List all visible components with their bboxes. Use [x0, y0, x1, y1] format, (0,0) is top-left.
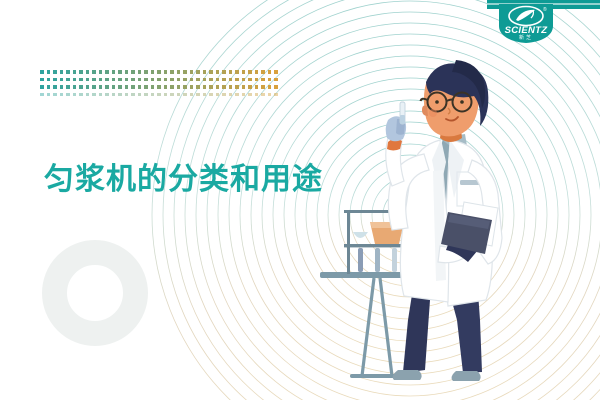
matrix-dot [164, 78, 168, 82]
matrix-dot [222, 85, 226, 89]
matrix-dot [268, 70, 272, 74]
lab-bench [320, 210, 440, 378]
matrix-dot [79, 93, 83, 97]
scientist-illustration [300, 20, 600, 400]
matrix-dot [177, 78, 181, 82]
matrix-dot [47, 70, 51, 74]
matrix-dot [229, 85, 233, 89]
page-title: 匀浆机的分类和用途 [44, 154, 323, 198]
matrix-dot [138, 93, 142, 97]
matrix-dot [242, 70, 246, 74]
matrix-dot [53, 70, 57, 74]
matrix-dot [66, 85, 70, 89]
matrix-dot [151, 78, 155, 82]
matrix-dot [203, 85, 207, 89]
matrix-dot [170, 70, 174, 74]
matrix-dot [125, 70, 129, 74]
matrix-dot [73, 78, 77, 82]
matrix-dot [86, 70, 90, 74]
matrix-dot [255, 70, 259, 74]
matrix-dot [170, 85, 174, 89]
matrix-dot [112, 78, 116, 82]
matrix-dot [274, 70, 278, 74]
matrix-dot [92, 93, 96, 97]
matrix-dot [66, 78, 70, 82]
matrix-dot [79, 78, 83, 82]
matrix-dot [138, 70, 142, 74]
matrix-dot [66, 93, 70, 97]
matrix-dot [235, 70, 239, 74]
matrix-dot [125, 85, 129, 89]
matrix-dot [196, 70, 200, 74]
matrix-dot [138, 85, 142, 89]
matrix-dot [60, 70, 64, 74]
matrix-dot [183, 78, 187, 82]
matrix-dot [105, 70, 109, 74]
matrix-dot [255, 93, 259, 97]
matrix-dot [177, 70, 181, 74]
matrix-dot [60, 93, 64, 97]
matrix-dot [144, 85, 148, 89]
dot-matrix-decoration [40, 70, 281, 100]
matrix-dot [164, 85, 168, 89]
matrix-dot [40, 85, 44, 89]
matrix-dot [170, 93, 174, 97]
matrix-dot [229, 93, 233, 97]
matrix-dot [261, 78, 265, 82]
matrix-dot [151, 93, 155, 97]
matrix-dot [177, 93, 181, 97]
matrix-dot [248, 93, 252, 97]
matrix-dot [157, 70, 161, 74]
matrix-dot [131, 85, 135, 89]
matrix-dot [183, 85, 187, 89]
promo-banner: 匀浆机的分类和用途 ® SCIENTZ 新芝 [0, 0, 600, 400]
matrix-dot [177, 85, 181, 89]
matrix-dot [144, 78, 148, 82]
matrix-dot [242, 85, 246, 89]
matrix-dot [112, 85, 116, 89]
matrix-dot [261, 85, 265, 89]
matrix-dot [164, 70, 168, 74]
matrix-dot [125, 93, 129, 97]
matrix-dot [274, 93, 278, 97]
matrix-dot [144, 70, 148, 74]
matrix-dot [274, 78, 278, 82]
matrix-dot [53, 85, 57, 89]
matrix-dot [222, 78, 226, 82]
matrix-dot [47, 85, 51, 89]
matrix-dot [105, 93, 109, 97]
matrix-dot [105, 78, 109, 82]
registered-symbol: ® [543, 7, 547, 13]
matrix-dot [118, 93, 122, 97]
matrix-dot [99, 85, 103, 89]
matrix-dot [86, 78, 90, 82]
matrix-dot [47, 93, 51, 97]
matrix-dot [216, 70, 220, 74]
matrix-dot [268, 93, 272, 97]
matrix-dot [79, 70, 83, 74]
matrix-dot [157, 93, 161, 97]
matrix-dot [157, 78, 161, 82]
test-tubes [358, 248, 413, 272]
matrix-dot [190, 93, 194, 97]
matrix-dot [196, 93, 200, 97]
matrix-dot [229, 78, 233, 82]
glassware-upper-shelf [353, 222, 432, 244]
matrix-dot [53, 78, 57, 82]
matrix-dot [255, 78, 259, 82]
matrix-dot [60, 78, 64, 82]
matrix-dot [261, 70, 265, 74]
matrix-dot [190, 70, 194, 74]
matrix-dot [203, 70, 207, 74]
matrix-dot [99, 70, 103, 74]
matrix-dot [209, 78, 213, 82]
matrix-dot [86, 85, 90, 89]
matrix-dot [235, 85, 239, 89]
matrix-dot [209, 85, 213, 89]
matrix-dot [209, 70, 213, 74]
matrix-dot [86, 93, 90, 97]
matrix-dot [53, 93, 57, 97]
matrix-dot [40, 93, 44, 97]
matrix-dot [92, 85, 96, 89]
matrix-dot [268, 85, 272, 89]
matrix-dot [216, 78, 220, 82]
matrix-dot [92, 70, 96, 74]
matrix-dot [131, 78, 135, 82]
matrix-dot [216, 85, 220, 89]
matrix-dot [47, 78, 51, 82]
matrix-dot [60, 85, 64, 89]
matrix-dot [242, 78, 246, 82]
matrix-dot [261, 93, 265, 97]
matrix-dot [105, 85, 109, 89]
matrix-dot [112, 93, 116, 97]
scientist-figure [386, 60, 502, 381]
matrix-dot [242, 93, 246, 97]
matrix-dot [170, 78, 174, 82]
matrix-dot [125, 78, 129, 82]
matrix-dot [138, 78, 142, 82]
matrix-dot [248, 70, 252, 74]
matrix-dot [274, 85, 278, 89]
matrix-dot [203, 93, 207, 97]
matrix-dot [229, 70, 233, 74]
matrix-dot [157, 85, 161, 89]
matrix-dot [40, 70, 44, 74]
matrix-dot [248, 85, 252, 89]
matrix-dot [196, 78, 200, 82]
matrix-dot [183, 93, 187, 97]
matrix-dot [222, 93, 226, 97]
matrix-dot [118, 70, 122, 74]
eyeglasses-icon [421, 93, 472, 112]
matrix-dot [151, 70, 155, 74]
matrix-dot [235, 93, 239, 97]
matrix-dot [73, 70, 77, 74]
matrix-dot [190, 85, 194, 89]
matrix-dot [118, 85, 122, 89]
matrix-dot [73, 93, 77, 97]
matrix-dot [255, 85, 259, 89]
matrix-dot [92, 78, 96, 82]
matrix-dot [99, 78, 103, 82]
matrix-dot [40, 78, 44, 82]
matrix-dot [183, 70, 187, 74]
matrix-dot [203, 78, 207, 82]
matrix-dot [112, 70, 116, 74]
matrix-dot [131, 70, 135, 74]
matrix-dot [118, 78, 122, 82]
matrix-dot [222, 70, 226, 74]
matrix-dot [144, 93, 148, 97]
matrix-dot [131, 93, 135, 97]
matrix-dot [66, 70, 70, 74]
matrix-dot [164, 93, 168, 97]
matrix-dot [99, 93, 103, 97]
brand-logo[interactable]: ® SCIENTZ 新芝 [487, 0, 600, 48]
matrix-dot [73, 85, 77, 89]
matrix-dot [268, 78, 272, 82]
matrix-dot [248, 78, 252, 82]
matrix-dot [79, 85, 83, 89]
matrix-dot [151, 85, 155, 89]
matrix-dot [209, 93, 213, 97]
matrix-dot [190, 78, 194, 82]
brand-chinese-mark: 新芝 [498, 34, 554, 41]
ring-donut-decoration [42, 240, 148, 346]
matrix-dot [196, 85, 200, 89]
matrix-dot [216, 93, 220, 97]
matrix-dot [235, 78, 239, 82]
